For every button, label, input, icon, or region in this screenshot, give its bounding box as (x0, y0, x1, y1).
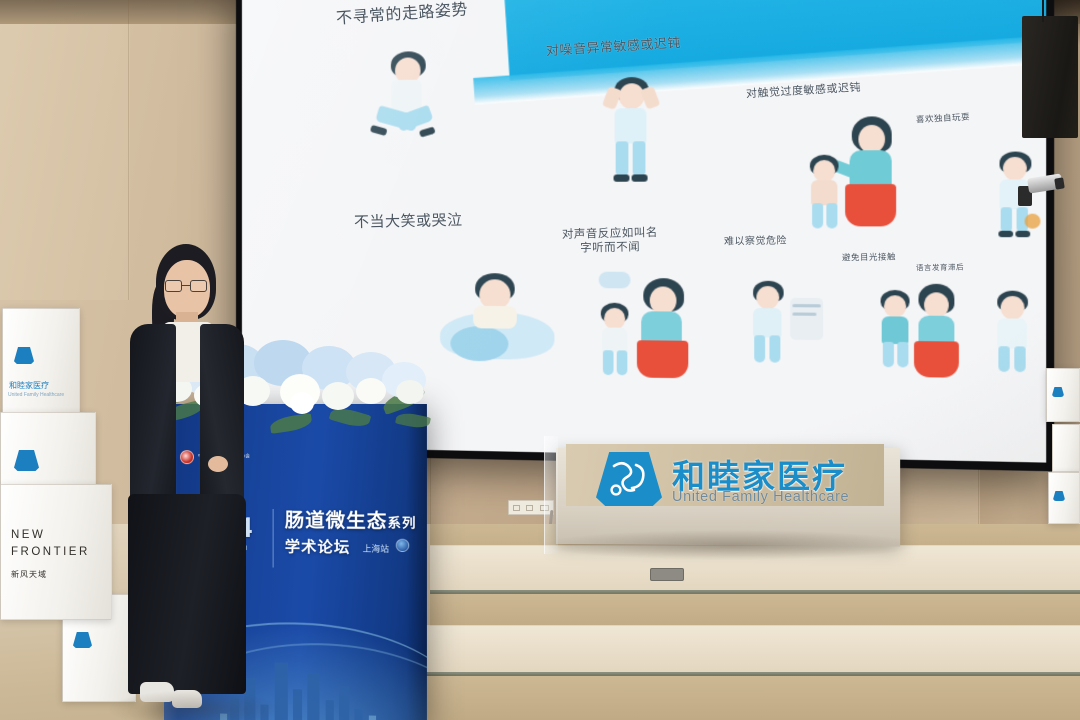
divider-rule (273, 509, 274, 568)
box-brand-chinese: 和睦家医疗 (9, 380, 49, 391)
photo-scene: 不寻常的走路姿势对噪音异常敏感或迟钝对触觉过度敏感或迟钝喜欢独自玩耍不当大笑或哭… (0, 0, 1080, 720)
presenter-blazer-right (200, 324, 244, 514)
illustration-no-response-to-name (597, 268, 699, 381)
illustration-child-covering-ears (599, 77, 665, 189)
speaker-cable (1042, 0, 1044, 22)
forum-title-main: 肠道微生态系列 (285, 505, 417, 534)
product-box: 和睦家医疗United Family Healthcare (2, 308, 80, 420)
city-badge-icon (396, 539, 409, 552)
illustration-inappropriate-laughing (440, 267, 554, 366)
illustration-avoid-eye-contact (876, 284, 961, 391)
illustration-speech-delay (984, 291, 1045, 382)
glass-pane (544, 436, 558, 554)
illustration-walking-child (373, 51, 445, 163)
united-family-fan-logo (1053, 491, 1065, 501)
presenter-shoe-right (172, 690, 202, 708)
illustration-danger-awareness (747, 277, 830, 383)
product-box (1052, 424, 1080, 472)
slide-caption: 对声音反应如叫名 字听而不闻 (562, 225, 659, 256)
camera-lens-icon (1054, 177, 1065, 189)
product-box (1046, 368, 1080, 422)
united-family-fan-logo (14, 450, 39, 471)
stage-step-upper (430, 546, 1080, 592)
stage-riser-lower (430, 594, 1080, 628)
ceiling-speaker (1022, 16, 1078, 138)
presenter-shoe-left (140, 682, 174, 702)
new-frontier-english: NEW FRONTIER (11, 527, 90, 560)
product-box (1048, 472, 1080, 524)
forum-title-suffix: 系列 (387, 516, 416, 532)
united-family-fan-logo (596, 452, 662, 506)
presenter-lower-body (128, 494, 246, 694)
forum-title-main-text: 肠道微生态 (285, 509, 388, 532)
presenter-hand (208, 456, 228, 472)
united-family-fan-logo (73, 632, 92, 648)
eyeglasses-icon (165, 280, 209, 292)
new-frontier-chinese: 新风天域 (11, 569, 47, 580)
slide-caption: 难以察觉危险 (724, 235, 787, 249)
wall-panel-left (0, 0, 130, 300)
presenter (112, 244, 262, 720)
new-frontier-box: NEW FRONTIER 新风天域 (0, 484, 112, 620)
united-family-fan-logo (14, 347, 34, 364)
illustration-adult-and-child-touch (803, 116, 909, 235)
slide-caption: 避免目光接触 (842, 253, 896, 265)
box-brand-english: United Family Healthcare (8, 392, 64, 398)
stage-step-lower (380, 626, 1080, 674)
slide-caption: 不当大笑或哭泣 (354, 211, 463, 232)
forum-city-label: 上海站 (363, 542, 389, 555)
forum-title-sub: 学术论坛 (285, 535, 350, 557)
brand-name-english: United Family Healthcare (672, 489, 849, 505)
united-family-fan-logo (1052, 387, 1064, 397)
floor-outlet (650, 568, 684, 581)
stage-riser-bottom (380, 676, 1080, 720)
slide-caption: 语言发育滞后 (916, 263, 964, 273)
illustration-child-playing-alone (984, 151, 1047, 241)
